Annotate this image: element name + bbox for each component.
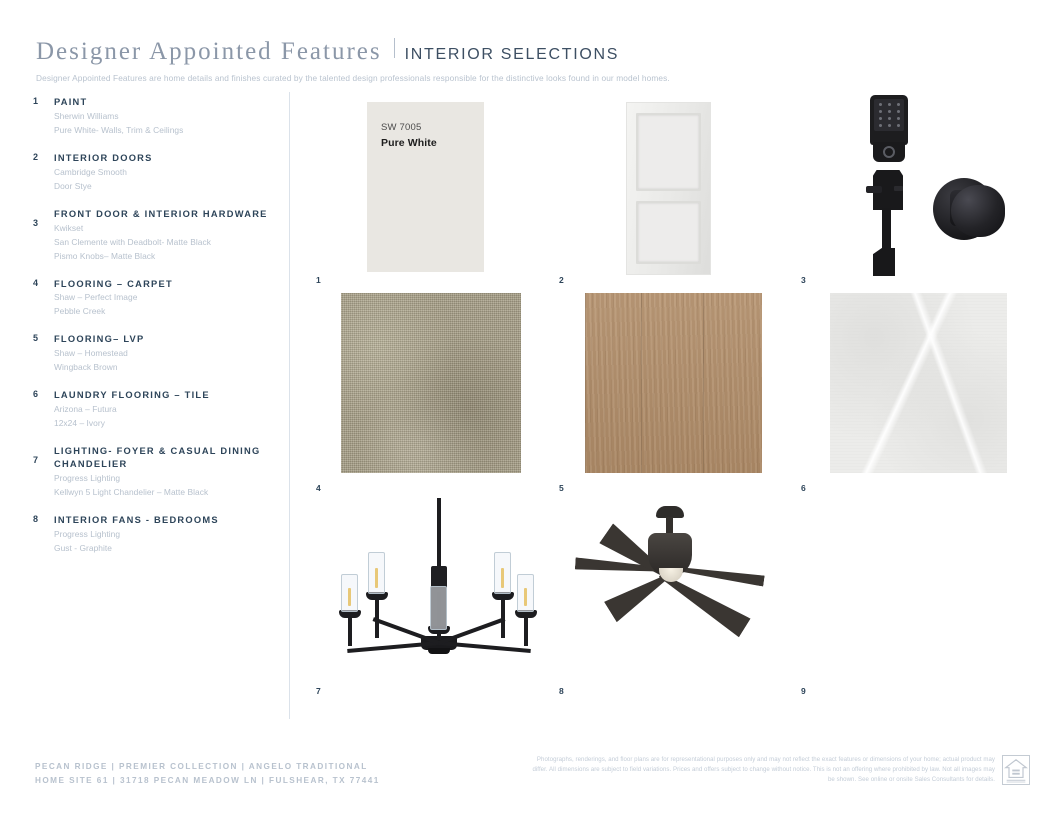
list-item-number: 1 xyxy=(33,96,49,106)
list-item-number: 4 xyxy=(33,278,49,288)
title-divider xyxy=(394,38,395,58)
list-item-heading: LIGHTING- FOYER & CASUAL DINING CHANDELI… xyxy=(54,445,283,471)
list-item-detail-2: Pebble Creek xyxy=(54,305,283,318)
gallery-number-8: 8 xyxy=(559,686,564,696)
equal-housing-opportunity-logo xyxy=(1002,755,1030,785)
keypad-thumbturn-ring xyxy=(883,146,895,158)
selections-list: 1 PAINT Sherwin Williams Pure White- Wal… xyxy=(33,96,283,570)
ceiling-fan-gust-graphite[interactable] xyxy=(560,506,775,626)
list-item-detail-1: Sherwin Williams xyxy=(54,110,283,123)
chandelier-stem xyxy=(524,616,528,646)
title-row: Designer Appointed Features INTERIOR SEL… xyxy=(36,38,1026,66)
list-item-number: 6 xyxy=(33,389,49,399)
gallery-number-2: 2 xyxy=(559,275,564,285)
gallery-row-2: 4 5 6 xyxy=(310,293,1022,496)
list-item-number: 7 xyxy=(33,455,49,465)
tile-arizona-futura-12x24-ivory[interactable] xyxy=(830,293,1007,473)
list-item-detail-1: Arizona – Futura xyxy=(54,403,283,416)
list-item[interactable]: 4 FLOORING – CARPET Shaw – Perfect Image… xyxy=(33,278,283,319)
list-item[interactable]: 3 FRONT DOOR & INTERIOR HARDWARE Kwikset… xyxy=(33,208,283,263)
list-item[interactable]: 7 LIGHTING- FOYER & CASUAL DINING CHANDE… xyxy=(33,445,283,499)
list-item-detail-2: Kellwyn 5 Light Chandelier – Matte Black xyxy=(54,486,283,499)
list-item-detail-1: Shaw – Homestead xyxy=(54,347,283,360)
gallery-number-4: 4 xyxy=(316,483,321,493)
chandelier-stem xyxy=(501,598,505,638)
list-item-heading: INTERIOR FANS - BEDROOMS xyxy=(54,514,283,527)
handleset-foot xyxy=(873,248,895,276)
interior-door-cambridge-smooth[interactable] xyxy=(626,102,711,275)
page-header: Designer Appointed Features INTERIOR SEL… xyxy=(36,38,1026,84)
footer-community-info: PECAN RIDGE | PREMIER COLLECTION | ANGEL… xyxy=(35,760,465,789)
list-item-heading: PAINT xyxy=(54,96,283,109)
lvp-shaw-homestead-wingback-brown[interactable] xyxy=(585,293,762,473)
list-item[interactable]: 2 INTERIOR DOORS Cambridge Smooth Door S… xyxy=(33,152,283,193)
door-panel-lower xyxy=(636,201,701,264)
chandelier-kellwyn-5-light-matte-black[interactable] xyxy=(320,496,530,681)
chandelier-filament xyxy=(348,588,351,606)
list-item-detail-1: Cambridge Smooth xyxy=(54,166,283,179)
door-panel-upper xyxy=(636,113,701,191)
gallery-number-6: 6 xyxy=(801,483,806,493)
designer-features-sheet: Designer Appointed Features INTERIOR SEL… xyxy=(0,0,1055,815)
footer-disclaimer: Photographs, renderings, and floor plans… xyxy=(525,755,995,785)
list-item-detail-1: Shaw – Perfect Image xyxy=(54,291,283,304)
list-item-detail-2: Wingback Brown xyxy=(54,361,283,374)
list-item-number: 5 xyxy=(33,333,49,343)
door-hardware-kwikset-matte-black[interactable] xyxy=(850,90,1025,280)
list-item-heading: FLOORING– LVP xyxy=(54,333,283,346)
gallery-number-5: 5 xyxy=(559,483,564,493)
chandelier-filament xyxy=(524,588,527,606)
footer-line-2: HOME SITE 61 | 31718 PECAN MEADOW LN | F… xyxy=(35,774,465,788)
page-description: Designer Appointed Features are home det… xyxy=(36,73,1026,84)
paint-name-label: Pure White xyxy=(381,137,437,149)
gallery-row-1: SW 7005 Pure White 1 2 xyxy=(310,90,1022,293)
chandelier-filament xyxy=(375,568,378,588)
chandelier-stem xyxy=(375,598,379,638)
chandelier-downrod xyxy=(437,498,441,570)
list-item-heading: INTERIOR DOORS xyxy=(54,152,283,165)
keypad-buttons xyxy=(876,102,902,128)
image-gallery: SW 7005 Pure White 1 2 xyxy=(310,90,1022,699)
vertical-divider xyxy=(289,92,290,719)
carpet-shaw-perfect-image-pebble-creek[interactable] xyxy=(341,293,521,473)
paint-swatch-sw7005-pure-white[interactable]: SW 7005 Pure White xyxy=(367,102,484,272)
list-item-number: 2 xyxy=(33,152,49,162)
list-item[interactable]: 1 PAINT Sherwin Williams Pure White- Wal… xyxy=(33,96,283,137)
list-item-detail-2: Pure White- Walls, Trim & Ceilings xyxy=(54,124,283,137)
handleset-lever xyxy=(866,186,882,193)
chandelier-finial xyxy=(428,648,450,654)
footer-line-1: PECAN RIDGE | PREMIER COLLECTION | ANGEL… xyxy=(35,760,465,774)
list-item-number: 3 xyxy=(33,218,49,228)
knob-head xyxy=(951,185,1005,237)
list-item[interactable]: 8 INTERIOR FANS - BEDROOMS Progress Ligh… xyxy=(33,514,283,555)
list-item-detail-2: Gust - Graphite xyxy=(54,542,283,555)
list-item-heading: LAUNDRY FLOORING – TILE xyxy=(54,389,283,402)
handleset-lever-tail xyxy=(894,186,903,191)
chandelier-filament xyxy=(501,568,504,588)
gallery-number-9: 9 xyxy=(801,686,806,696)
list-item-detail-2: 12x24 – Ivory xyxy=(54,417,283,430)
page-subtitle-label: INTERIOR SELECTIONS xyxy=(405,46,620,64)
list-item-detail-1: Progress Lighting xyxy=(54,528,283,541)
gallery-number-3: 3 xyxy=(801,275,806,285)
gallery-number-1: 1 xyxy=(316,275,321,285)
list-item-detail-2: Door Stye xyxy=(54,180,283,193)
gallery-row-3: 7 8 9 xyxy=(310,496,1022,699)
list-item-number: 8 xyxy=(33,514,49,524)
list-item[interactable]: 5 FLOORING– LVP Shaw – Homestead Wingbac… xyxy=(33,333,283,374)
page-title: Designer Appointed Features xyxy=(36,38,382,66)
chandelier-glass-shade xyxy=(430,586,447,630)
list-item-heading: FRONT DOOR & INTERIOR HARDWARE xyxy=(54,208,283,221)
paint-code-label: SW 7005 xyxy=(381,122,421,133)
list-item-detail-1: Progress Lighting xyxy=(54,472,283,485)
list-item-heading: FLOORING – CARPET xyxy=(54,278,283,291)
list-item-detail-1: Kwikset xyxy=(54,222,283,235)
list-item-detail-2: San Clemente with Deadbolt- Matte Black xyxy=(54,236,283,249)
chandelier-stem xyxy=(348,616,352,646)
list-item-detail-3: Pismo Knobs– Matte Black xyxy=(54,250,283,263)
gallery-number-7: 7 xyxy=(316,686,321,696)
list-item[interactable]: 6 LAUNDRY FLOORING – TILE Arizona – Futu… xyxy=(33,389,283,430)
